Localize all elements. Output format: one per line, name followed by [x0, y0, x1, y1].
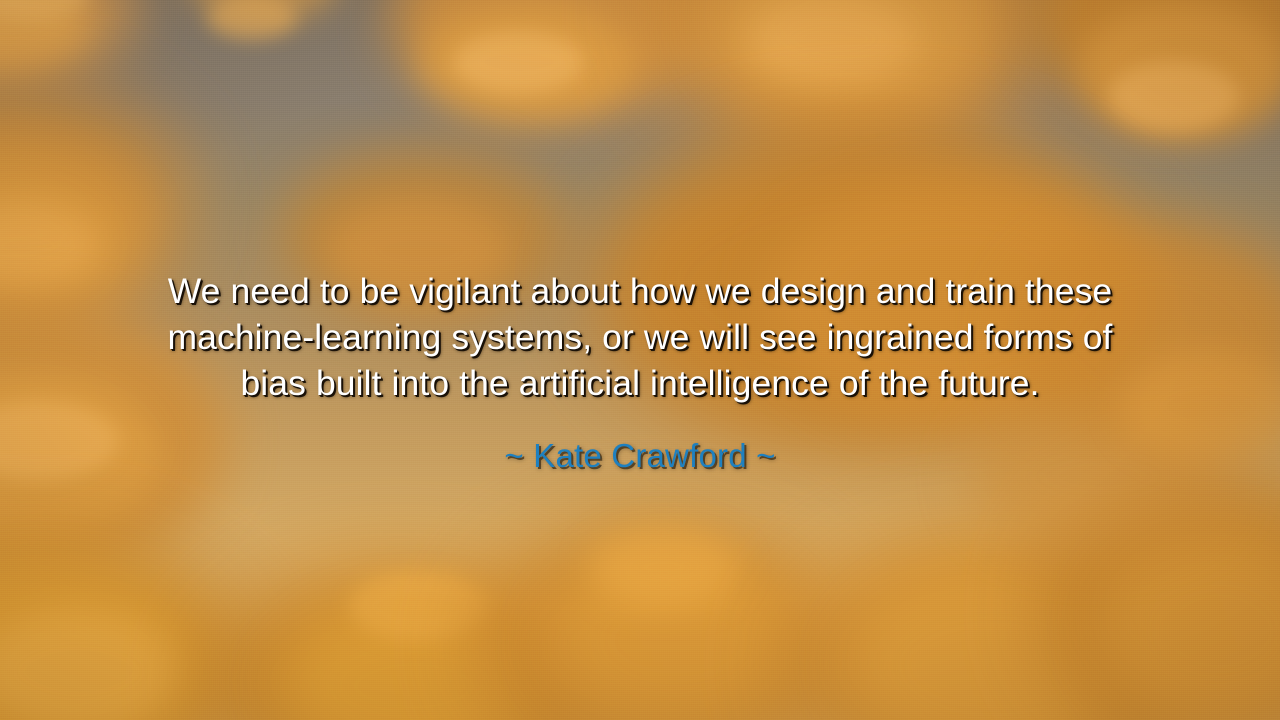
- quote-text: We need to be vigilant about how we desi…: [52, 268, 1228, 406]
- cloud-shape: [589, 527, 739, 607]
- quote-card: We need to be vigilant about how we desi…: [0, 0, 1280, 720]
- cloud-shape: [207, 0, 297, 39]
- cloud-shape: [454, 31, 584, 93]
- quote-attribution: ~ Kate Crawford ~: [52, 436, 1228, 476]
- cloud-shape: [1109, 61, 1239, 131]
- quote-block: We need to be vigilant about how we desi…: [0, 268, 1280, 476]
- cloud-shape: [349, 571, 489, 641]
